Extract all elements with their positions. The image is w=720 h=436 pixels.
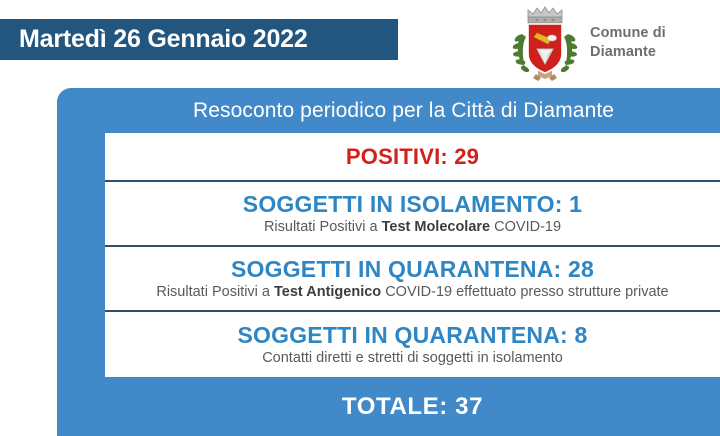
positives-label: POSITIVI: 29: [346, 144, 479, 170]
stat-row-positives: POSITIVI: 29: [105, 133, 720, 182]
isolation-subtitle: Risultati Positivi a Test Molecolare COV…: [264, 220, 561, 236]
stat-row-quarantine-contacts: SOGGETTI IN QUARANTENA: 8 Contatti diret…: [105, 312, 720, 377]
quarantine-antigenic-subtitle: Risultati Positivi a Test Antigenico COV…: [156, 285, 668, 301]
municipality-name-line2: Diamante: [590, 43, 666, 62]
municipality-name-line1: Comune di: [590, 24, 666, 43]
crown-icon: [528, 7, 562, 23]
quarantine-antigenic-subtitle-post: COVID-19 effettuato presso strutture pri…: [381, 284, 668, 300]
total-band: TOTALE: 37: [105, 377, 720, 436]
page-header: Martedì 26 Gennaio 2022: [0, 0, 720, 86]
isolation-subtitle-bold: Test Molecolare: [382, 219, 491, 235]
isolation-headline: SOGGETTI IN ISOLAMENTO: 1: [243, 191, 582, 217]
date-label: Martedì 26 Gennaio 2022: [0, 25, 308, 54]
isolation-subtitle-post: COVID-19: [490, 219, 561, 235]
municipality-name: Comune di Diamante: [590, 24, 666, 61]
stat-row-isolation: SOGGETTI IN ISOLAMENTO: 1 Risultati Posi…: [105, 182, 720, 247]
coat-of-arms-icon: [508, 4, 582, 82]
total-label: TOTALE: 37: [342, 393, 483, 421]
quarantine-contacts-subtitle-pre: Contatti diretti e stretti di soggetti i…: [262, 350, 563, 366]
isolation-subtitle-pre: Risultati Positivi a: [264, 219, 382, 235]
shield-icon: [528, 24, 562, 73]
quarantine-contacts-subtitle: Contatti diretti e stretti di soggetti i…: [262, 351, 563, 367]
quarantine-antigenic-subtitle-bold: Test Antigenico: [274, 284, 381, 300]
stat-row-quarantine-antigenic: SOGGETTI IN QUARANTENA: 28 Risultati Pos…: [105, 247, 720, 312]
statistics-card: POSITIVI: 29 SOGGETTI IN ISOLAMENTO: 1 R…: [105, 133, 720, 377]
quarantine-contacts-headline: SOGGETTI IN QUARANTENA: 8: [237, 322, 587, 348]
report-panel: Resoconto periodico per la Città di Diam…: [57, 88, 720, 436]
quarantine-antigenic-subtitle-pre: Risultati Positivi a: [156, 284, 274, 300]
quarantine-antigenic-headline: SOGGETTI IN QUARANTENA: 28: [231, 256, 594, 282]
date-banner: Martedì 26 Gennaio 2022: [0, 19, 398, 60]
report-title: Resoconto periodico per la Città di Diam…: [57, 88, 720, 133]
municipality-logo: Comune di Diamante: [508, 3, 720, 83]
